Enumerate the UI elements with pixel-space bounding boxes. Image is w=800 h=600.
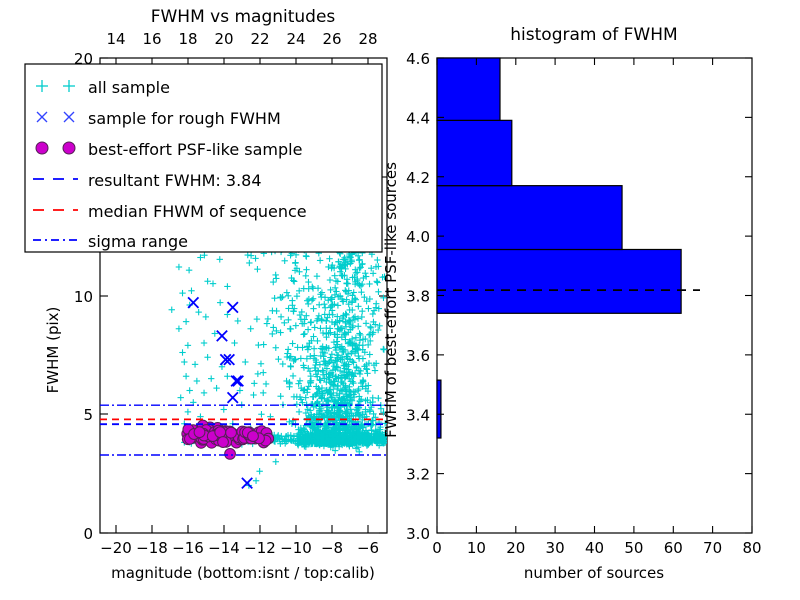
x-tick--6: −6 bbox=[357, 539, 379, 557]
hist-y-tick-3.2: 3.2 bbox=[406, 466, 430, 484]
top-tick-18: 18 bbox=[178, 30, 197, 48]
hist-x-tick-20: 20 bbox=[506, 539, 525, 557]
hist-x-tick-80: 80 bbox=[742, 539, 761, 557]
legend-label-psf-like: best-effort PSF-like sample bbox=[88, 140, 302, 159]
top-tick-28: 28 bbox=[358, 30, 377, 48]
x-tick--16: −16 bbox=[172, 539, 204, 557]
hist-x-tick-60: 60 bbox=[664, 539, 683, 557]
top-tick-20: 20 bbox=[214, 30, 233, 48]
x-tick--12: −12 bbox=[244, 539, 276, 557]
hist-y-tick-3.0: 3.0 bbox=[406, 525, 430, 543]
legend-label-resultant-fwhm: resultant FWHM: 3.84 bbox=[88, 171, 262, 190]
legend-label-sigma-range: sigma range bbox=[88, 232, 188, 251]
legend-label-rough-fwhm: sample for rough FWHM bbox=[88, 109, 281, 128]
top-tick-14: 14 bbox=[106, 30, 125, 48]
y-tick-5: 5 bbox=[83, 406, 93, 424]
hist-y-tick-4.2: 4.2 bbox=[406, 169, 430, 187]
scatter-title: FWHM vs magnitudes bbox=[151, 7, 336, 27]
histogram-xlabel: number of sources bbox=[524, 564, 664, 582]
legend-label-median-fwhm: median FHWM of sequence bbox=[88, 202, 307, 221]
scatter-ylabel: FWHM (pix) bbox=[44, 307, 62, 394]
legend-label-all-sample: all sample bbox=[88, 78, 170, 97]
hist-y-tick-3.6: 3.6 bbox=[406, 347, 430, 365]
histogram-bar bbox=[437, 120, 512, 185]
hist-y-tick-4.6: 4.6 bbox=[406, 50, 430, 68]
hist-x-tick-40: 40 bbox=[585, 539, 604, 557]
histogram-bar bbox=[437, 380, 441, 438]
hist-x-tick-50: 50 bbox=[624, 539, 643, 557]
x-tick--18: −18 bbox=[136, 539, 168, 557]
matplotlib-figure: FWHM vs magnitudes 14 16 18 20 22 24 26 … bbox=[0, 0, 800, 600]
top-tick-24: 24 bbox=[286, 30, 305, 48]
top-tick-16: 16 bbox=[142, 30, 161, 48]
hist-y-tick-4.0: 4.0 bbox=[406, 228, 430, 246]
top-tick-22: 22 bbox=[250, 30, 269, 48]
histogram-bar bbox=[437, 186, 622, 250]
y-tick-10: 10 bbox=[74, 288, 93, 306]
circle-icon bbox=[36, 142, 48, 154]
histogram-ylabel: FWHM of best-effort PSF-like sources bbox=[382, 162, 400, 438]
circle-icon bbox=[63, 142, 75, 154]
scatter-legend: all sample sample for rough FWHM best-ef… bbox=[25, 64, 382, 252]
x-tick--14: −14 bbox=[208, 539, 240, 557]
hist-x-tick-30: 30 bbox=[546, 539, 565, 557]
histogram-bar bbox=[437, 249, 681, 313]
x-tick--10: −10 bbox=[280, 539, 312, 557]
hist-x-tick-0: 0 bbox=[432, 539, 442, 557]
histogram-title: histogram of FWHM bbox=[510, 25, 677, 45]
x-tick--8: −8 bbox=[321, 539, 343, 557]
figure-canvas: FWHM vs magnitudes 14 16 18 20 22 24 26 … bbox=[0, 0, 800, 600]
hist-x-tick-10: 10 bbox=[467, 539, 486, 557]
histogram-x-ticklabels: 0 10 20 30 40 50 60 70 80 bbox=[432, 539, 761, 557]
hist-y-tick-4.4: 4.4 bbox=[406, 109, 430, 127]
hist-y-tick-3.8: 3.8 bbox=[406, 288, 430, 306]
histogram-bar bbox=[437, 58, 500, 120]
hist-x-tick-70: 70 bbox=[703, 539, 722, 557]
y-tick-0: 0 bbox=[83, 525, 93, 543]
scatter-bottom-ticklabels: −20 −18 −16 −14 −12 −10 −8 −6 bbox=[100, 539, 379, 557]
top-tick-26: 26 bbox=[322, 30, 341, 48]
scatter-xlabel: magnitude (bottom:isnt / top:calib) bbox=[111, 564, 375, 582]
x-tick--20: −20 bbox=[100, 539, 132, 557]
histogram-y-ticklabels: 3.03.23.43.63.84.04.24.44.6 bbox=[406, 50, 430, 543]
hist-y-tick-3.4: 3.4 bbox=[406, 406, 430, 424]
